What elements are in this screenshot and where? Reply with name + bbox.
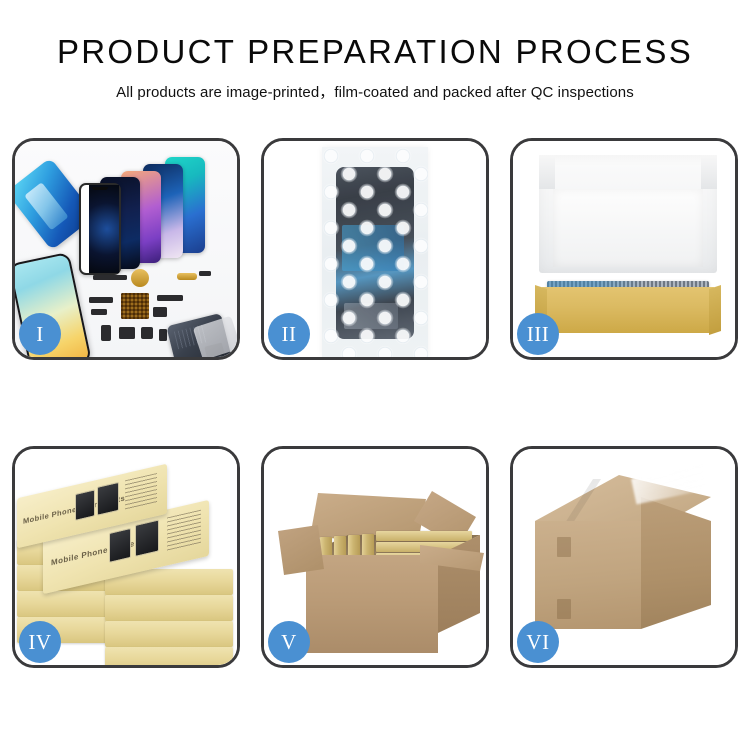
box-screen-thumbnail: [75, 489, 95, 521]
part-vibrator: [141, 327, 153, 339]
part-flex-strip: [93, 275, 127, 280]
step-panel-4[interactable]: Mobile Phone Spare Parts Mobile Phone Sp…: [12, 446, 240, 668]
bubble-highlight-layer: [322, 147, 428, 357]
part-button: [119, 327, 135, 339]
part-bracket: [91, 309, 107, 315]
stacked-box-edge: [105, 595, 233, 621]
carton-tape-top: [557, 537, 571, 557]
step-badge-2: II: [268, 313, 310, 355]
step-badge-3: III: [517, 313, 559, 355]
stacked-box-edge: [105, 647, 233, 665]
step-panel-5[interactable]: V: [261, 446, 489, 668]
part-small-clip: [199, 271, 211, 276]
part-camera-flex: [157, 295, 183, 301]
carton-front-face: [306, 555, 438, 653]
part-gold-connector: [177, 273, 197, 280]
part-ribbon-cable: [89, 297, 113, 303]
sealed-carton-front: [535, 521, 641, 629]
stacked-box-edge: [105, 621, 233, 647]
box-screen-thumbnail: [97, 482, 119, 516]
box-spec-text-lines: [125, 473, 157, 510]
step-panel-2[interactable]: II: [261, 138, 489, 360]
phone-notch-icon: [92, 187, 108, 190]
stacked-box-edge: [17, 591, 109, 617]
carton-tape-bottom: [557, 599, 571, 619]
step-badge-1: I: [19, 313, 61, 355]
foam-insert: [553, 189, 703, 267]
page-subtitle: All products are image-printed，film-coat…: [0, 81, 750, 102]
carton-flap-left: [278, 525, 324, 575]
page-title: PRODUCT PREPARATION PROCESS: [0, 34, 750, 70]
phone-display-1: [79, 183, 121, 275]
step-badge-5: V: [268, 621, 310, 663]
bubble-wrapped-package: [322, 147, 428, 357]
box-spec-text-lines: [167, 510, 201, 552]
page-header: PRODUCT PREPARATION PROCESS All products…: [0, 0, 750, 102]
step-panel-6[interactable]: VI: [510, 446, 738, 668]
part-screw-set: [159, 329, 167, 341]
part-speaker: [153, 307, 167, 317]
packed-box-row: [376, 531, 472, 541]
step-badge-6: VI: [517, 621, 559, 663]
step-panel-1[interactable]: I: [12, 138, 240, 360]
process-steps-grid: I II III: [12, 138, 738, 668]
kraft-box-tray: [541, 287, 715, 333]
part-ic-grid: [121, 293, 149, 319]
spare-parts-cluster: [87, 269, 237, 357]
part-sim-tray: [101, 325, 111, 341]
part-gold-coil: [131, 269, 149, 287]
step-panel-3[interactable]: III: [510, 138, 738, 360]
step-badge-4: IV: [19, 621, 61, 663]
box-screen-thumbnail: [135, 519, 159, 557]
box-screen-thumbnail: [109, 528, 131, 563]
